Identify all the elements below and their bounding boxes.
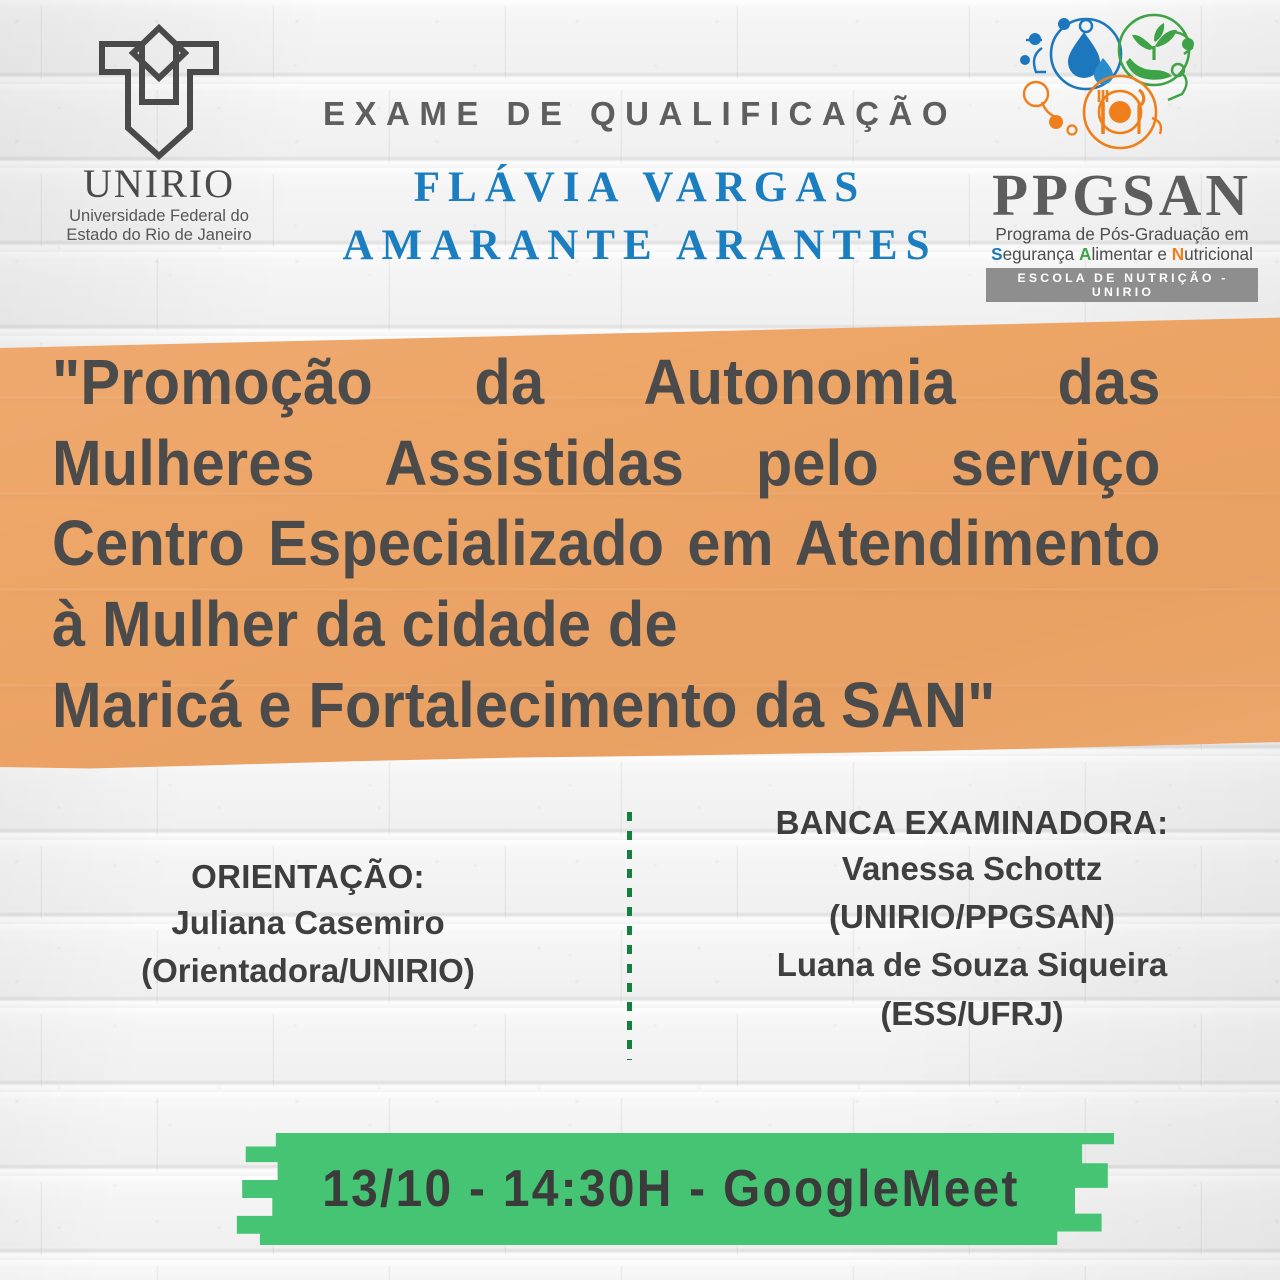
- candidate-name-line1: FLÁVIA VARGAS: [0, 159, 1280, 217]
- board-member-1-affiliation: (UNIRIO/PPGSAN): [664, 896, 1280, 938]
- dotted-divider: [627, 812, 632, 1060]
- candidate-name-line2: AMARANTE ARANTES: [0, 217, 1280, 275]
- poster-root: UNIRIO Universidade Federal do Estado do…: [0, 0, 1280, 1280]
- board-column: BANCA EXAMINADORA: Vanessa Schottz (UNIR…: [646, 800, 1280, 1090]
- advisor-affiliation: (Orientadora/UNIRIO): [0, 950, 616, 992]
- thesis-title-main: "Promoção da Autonomia das Mulheres Assi…: [52, 346, 1161, 660]
- candidate-name: FLÁVIA VARGAS AMARANTE ARANTES: [0, 159, 1280, 275]
- advisor-name: Juliana Casemiro: [0, 902, 616, 944]
- thesis-title: "Promoção da Autonomia das Mulheres Assi…: [52, 342, 1161, 745]
- exam-type-label: EXAME DE QUALIFICAÇÃO: [0, 95, 1280, 133]
- board-member-2-name: Luana de Souza Siqueira: [664, 944, 1280, 986]
- thesis-title-lastline: Maricá e Fortalecimento da SAN": [52, 665, 1161, 746]
- header-block: EXAME DE QUALIFICAÇÃO FLÁVIA VARGAS AMAR…: [0, 95, 1280, 275]
- committee-section: ORIENTAÇÃO: Juliana Casemiro (Orientador…: [0, 800, 1280, 1090]
- board-member-1-name: Vanessa Schottz: [664, 848, 1280, 890]
- board-member-2-affiliation: (ESS/UFRJ): [664, 993, 1280, 1035]
- advisor-column: ORIENTAÇÃO: Juliana Casemiro (Orientador…: [0, 800, 646, 1090]
- advisor-heading: ORIENTAÇÃO:: [0, 858, 616, 896]
- board-heading: BANCA EXAMINADORA:: [664, 804, 1280, 842]
- event-datetime-platform: 13/10 - 14:30H - GoogleMeet: [263, 1133, 1078, 1245]
